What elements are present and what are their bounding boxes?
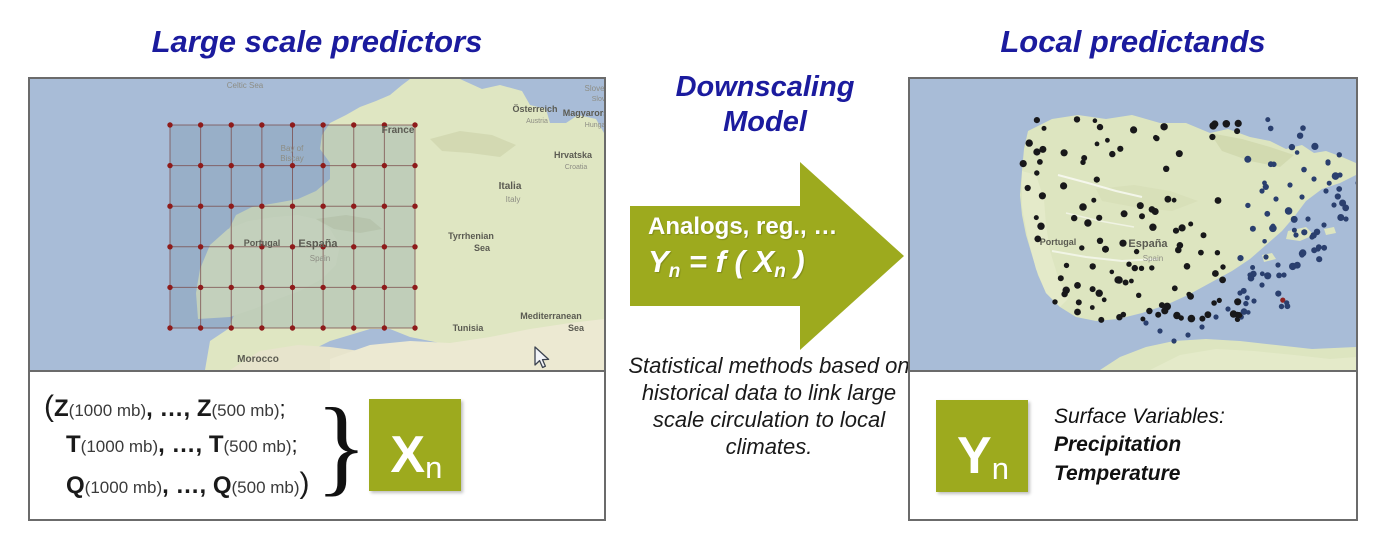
formula-var-t-2: T xyxy=(209,431,224,458)
station-point xyxy=(1091,198,1096,203)
station-point-offshore xyxy=(1337,172,1342,177)
map-label: Österreich xyxy=(512,104,557,114)
surface-variable-precipitation: Precipitation xyxy=(1054,431,1225,459)
grid-node xyxy=(382,285,387,290)
station-point xyxy=(1209,134,1215,140)
grid-node xyxy=(290,244,295,249)
station-point xyxy=(1223,120,1231,128)
station-point xyxy=(1291,216,1298,223)
grid-node xyxy=(259,285,264,290)
station-point xyxy=(1058,275,1064,281)
station-point xyxy=(1321,245,1327,251)
station-point xyxy=(1264,211,1270,217)
station-point-offshore xyxy=(1213,314,1218,319)
station-point xyxy=(1090,286,1096,292)
grid-node xyxy=(382,244,387,249)
station-point xyxy=(1132,265,1138,271)
map-label: Italia xyxy=(499,181,522,192)
grid-node xyxy=(382,204,387,209)
station-point xyxy=(1071,215,1077,221)
station-point xyxy=(1146,308,1152,314)
grid-node xyxy=(167,122,172,127)
station-point xyxy=(1205,311,1212,318)
formula-level-z-500: (500 mb) xyxy=(212,401,280,420)
station-point xyxy=(1079,203,1087,211)
grid-node xyxy=(259,204,264,209)
station-point xyxy=(1064,263,1069,268)
map-label: Bay of xyxy=(281,144,304,153)
station-point-offshore xyxy=(1321,222,1326,227)
station-point-offshore xyxy=(1273,196,1278,201)
grid-node xyxy=(320,204,325,209)
station-point xyxy=(1172,198,1177,203)
map-label: Tyrrhenian xyxy=(448,231,494,241)
predictor-variables-bar: (Z(1000 mb), …, Z(500 mb); T(1000 mb), …… xyxy=(30,372,604,519)
grid-node xyxy=(198,122,203,127)
station-point xyxy=(1076,299,1082,305)
station-point xyxy=(1117,146,1123,152)
formula-level-q-500: (500 mb) xyxy=(232,478,300,497)
map-label: Hrvatska xyxy=(554,150,593,160)
station-point xyxy=(1090,305,1095,310)
formula-var-z-1: Z xyxy=(54,395,69,422)
downscaling-arrow xyxy=(628,158,906,354)
station-point-offshore xyxy=(1171,338,1176,343)
grid-node xyxy=(198,285,203,290)
grid-node xyxy=(351,244,356,249)
map-label: Austria xyxy=(526,118,548,125)
station-point xyxy=(1121,210,1128,217)
map-label: Spain xyxy=(310,254,330,263)
predictand-token-yn: Yn xyxy=(936,400,1028,492)
station-point xyxy=(1084,219,1091,226)
grid-node xyxy=(351,163,356,168)
station-point xyxy=(1061,291,1067,297)
station-point-offshore xyxy=(1199,324,1204,329)
station-point-offshore xyxy=(1343,216,1348,221)
station-point xyxy=(1316,256,1322,262)
station-point-offshore xyxy=(1259,282,1264,287)
surface-variables-text: Surface Variables: Precipitation Tempera… xyxy=(1054,403,1225,488)
station-point xyxy=(1052,299,1057,304)
grid-node xyxy=(167,244,172,249)
grid-node xyxy=(382,163,387,168)
station-point xyxy=(1215,197,1222,204)
grid-node xyxy=(412,285,417,290)
station-point xyxy=(1188,222,1193,227)
station-point xyxy=(1116,314,1122,320)
station-point xyxy=(1093,118,1098,123)
station-point xyxy=(1198,250,1204,256)
station-point xyxy=(1037,223,1044,230)
map-label: Portugal xyxy=(1040,237,1077,247)
station-point xyxy=(1260,271,1265,276)
station-point xyxy=(1199,316,1205,322)
station-point-offshore xyxy=(1331,202,1336,207)
station-point xyxy=(1289,144,1295,150)
station-point xyxy=(1139,213,1145,219)
formula-line-q: Q(1000 mb), …, Q(500 mb)) xyxy=(44,463,310,506)
station-point-offshore xyxy=(1237,290,1242,295)
station-point xyxy=(1074,116,1080,122)
station-point xyxy=(1292,228,1297,233)
station-point xyxy=(1234,128,1240,134)
grid-node xyxy=(167,163,172,168)
grid-node xyxy=(229,244,234,249)
grid-node xyxy=(412,325,417,330)
station-point xyxy=(1152,208,1159,215)
station-point xyxy=(1234,298,1241,305)
formula-level-t-1000: (1000 mb) xyxy=(81,437,158,456)
station-point xyxy=(1098,317,1104,323)
station-point xyxy=(1080,160,1085,165)
station-point xyxy=(1126,262,1131,267)
station-point xyxy=(1188,315,1196,323)
arrow-right-icon xyxy=(628,158,906,354)
station-point xyxy=(1034,236,1041,243)
station-point-offshore xyxy=(1309,234,1314,239)
station-point xyxy=(1149,224,1156,231)
station-point xyxy=(1275,291,1281,297)
map-label: Hungary xyxy=(585,122,604,129)
station-point xyxy=(1096,290,1103,297)
token-letter-x: X xyxy=(390,426,424,484)
station-point-offshore xyxy=(1251,298,1256,303)
map-label: España xyxy=(298,238,338,250)
formula-line-t: T(1000 mb), …, T(500 mb); xyxy=(44,428,310,462)
map-label: Portugal xyxy=(244,238,281,248)
formula-close-paren: ) xyxy=(300,467,310,500)
grid-node xyxy=(412,163,417,168)
map-label: Italy xyxy=(506,195,521,204)
station-point-offshore xyxy=(1143,320,1148,325)
token-letter-y: Y xyxy=(957,427,991,485)
station-point xyxy=(1300,125,1306,131)
large-scale-predictors-panel: Celtic SeaBay ofBiscayFrancePortugalEspa… xyxy=(28,77,606,521)
token-sub-n-x: n xyxy=(425,450,441,485)
station-point xyxy=(1327,181,1332,186)
grid-node xyxy=(290,204,295,209)
formula-var-q-2: Q xyxy=(213,472,232,499)
grid-node xyxy=(382,325,387,330)
station-point xyxy=(1060,182,1067,189)
station-point xyxy=(1211,300,1217,306)
station-point-offshore xyxy=(1157,328,1162,333)
station-point xyxy=(1220,264,1225,269)
station-point xyxy=(1301,167,1307,173)
station-point xyxy=(1336,186,1342,192)
grid-node xyxy=(290,163,295,168)
station-point-offshore xyxy=(1185,332,1190,337)
map-label: Magyarország xyxy=(563,108,604,118)
grid-node xyxy=(229,204,234,209)
station-point xyxy=(1335,193,1341,199)
station-point xyxy=(1020,160,1027,167)
map-label: Spain xyxy=(1143,254,1163,263)
station-point xyxy=(1264,272,1271,279)
station-point xyxy=(1074,309,1081,316)
station-point xyxy=(1123,280,1129,286)
page-title-large-scale-predictors: Large scale predictors xyxy=(28,24,606,60)
grid-node xyxy=(412,244,417,249)
grid-node xyxy=(198,163,203,168)
grid-node xyxy=(259,122,264,127)
station-point xyxy=(1235,120,1242,127)
station-point xyxy=(1172,285,1178,291)
europe-map-graphic: Celtic SeaBay ofBiscayFrancePortugalEspa… xyxy=(30,79,604,370)
station-point-offshore xyxy=(1263,254,1268,259)
station-point-offshore xyxy=(1225,306,1230,311)
station-point xyxy=(1179,224,1186,231)
station-point xyxy=(1154,136,1160,142)
iberia-station-map[interactable]: PortugalEspañaSpain xyxy=(910,79,1356,372)
station-point xyxy=(1061,149,1068,156)
grid-node xyxy=(167,204,172,209)
station-point xyxy=(1250,226,1256,232)
station-point-offshore xyxy=(1305,216,1310,221)
grid-node xyxy=(229,325,234,330)
station-point xyxy=(1039,192,1046,199)
station-point xyxy=(1136,293,1141,298)
map-label: Celtic Sea xyxy=(227,81,264,90)
station-point xyxy=(1311,143,1318,150)
station-point xyxy=(1134,249,1139,254)
station-point xyxy=(1244,156,1251,163)
station-point xyxy=(1160,123,1167,130)
map-label: Sea xyxy=(568,323,585,333)
station-point xyxy=(1241,308,1248,315)
station-point-offshore xyxy=(1259,188,1264,193)
formula-dots-z: , …, xyxy=(146,395,197,422)
grid-node xyxy=(320,325,325,330)
station-point xyxy=(1102,246,1109,253)
station-point xyxy=(1268,126,1274,132)
station-point xyxy=(1339,200,1346,207)
map-label: Morocco xyxy=(237,354,279,365)
station-point xyxy=(1262,239,1267,244)
station-point xyxy=(1119,240,1126,247)
grid-node xyxy=(320,122,325,127)
downscaling-title-line2: Model xyxy=(723,106,807,138)
iberia-map-graphic: PortugalEspañaSpain xyxy=(910,79,1356,370)
grid-node xyxy=(290,325,295,330)
formula-var-z-2: Z xyxy=(197,395,212,422)
station-point xyxy=(1285,303,1291,309)
map-label: Slovakia xyxy=(592,96,604,103)
station-point xyxy=(1212,270,1219,277)
station-point xyxy=(1025,185,1031,191)
station-point xyxy=(1161,307,1168,314)
formula-level-q-1000: (1000 mb) xyxy=(85,478,162,497)
station-point xyxy=(1090,263,1096,269)
predictor-variable-formula: (Z(1000 mb), …, Z(500 mb); T(1000 mb), …… xyxy=(44,386,310,505)
token-sub-n-y: n xyxy=(992,451,1008,486)
surface-variables-bar: Yn Surface Variables: Precipitation Temp… xyxy=(910,372,1356,519)
station-point xyxy=(1105,138,1110,143)
station-point xyxy=(1110,270,1115,275)
grid-node xyxy=(320,163,325,168)
map-label: España xyxy=(1128,238,1168,250)
station-point xyxy=(1074,282,1081,289)
station-point-offshore xyxy=(1275,262,1280,267)
station-point-offshore xyxy=(1247,272,1252,277)
station-point xyxy=(1102,297,1107,302)
station-point xyxy=(1187,293,1194,300)
formula-var-t-1: T xyxy=(66,431,81,458)
formula-level-z-1000: (1000 mb) xyxy=(69,401,146,420)
station-point xyxy=(1173,312,1180,319)
station-point xyxy=(1337,152,1342,157)
station-point xyxy=(1137,202,1144,209)
formula-dots-t: , …, xyxy=(158,431,209,458)
station-point-offshore xyxy=(1299,194,1304,199)
station-point-offshore xyxy=(1315,246,1320,251)
station-point-offshore xyxy=(1293,232,1298,237)
map-label: Tunisia xyxy=(453,323,485,333)
station-point xyxy=(1109,151,1115,157)
station-point xyxy=(1250,265,1255,270)
station-point xyxy=(1279,304,1284,309)
station-point xyxy=(1140,317,1145,322)
station-point xyxy=(1245,203,1250,208)
station-point xyxy=(1079,245,1084,250)
map-label: Croatia xyxy=(565,164,588,171)
grid-node xyxy=(351,122,356,127)
station-point xyxy=(1037,159,1043,165)
station-point xyxy=(1096,215,1102,221)
formula-end-z: ; xyxy=(280,396,286,421)
mouse-pointer-icon xyxy=(533,346,551,370)
grid-node xyxy=(198,244,203,249)
europe-predictor-map[interactable]: Celtic SeaBay ofBiscayFrancePortugalEspa… xyxy=(30,79,604,372)
station-point xyxy=(1034,170,1039,175)
station-point xyxy=(1201,232,1207,238)
station-point xyxy=(1219,277,1226,284)
predictor-token-xn: Xn xyxy=(369,399,461,491)
station-point xyxy=(1314,229,1321,236)
station-point xyxy=(1114,276,1121,283)
station-point xyxy=(1184,263,1191,270)
station-point xyxy=(1130,126,1137,133)
station-point xyxy=(1271,162,1277,168)
station-point xyxy=(1097,238,1103,244)
surface-variables-header: Surface Variables: xyxy=(1054,405,1225,428)
station-point xyxy=(1294,262,1301,269)
map-label: France xyxy=(382,125,415,136)
station-point xyxy=(1026,139,1033,146)
station-point xyxy=(1211,120,1218,127)
map-label: Mediterranean xyxy=(520,311,582,321)
station-point xyxy=(1176,150,1183,157)
station-point xyxy=(1301,229,1307,235)
station-point-offshore xyxy=(1323,188,1328,193)
downscaling-caption: Statistical methods based on historical … xyxy=(626,352,912,460)
station-point xyxy=(1215,250,1220,255)
map-label: Slovensko xyxy=(585,84,604,93)
station-point-offshore xyxy=(1281,272,1286,277)
formula-var-q-1: Q xyxy=(66,472,85,499)
grid-node xyxy=(167,325,172,330)
grid-node xyxy=(198,204,203,209)
formula-dots-q: , …, xyxy=(162,472,213,499)
station-point xyxy=(1230,310,1237,317)
grid-node xyxy=(290,285,295,290)
station-point xyxy=(1295,150,1300,155)
grid-node xyxy=(290,122,295,127)
grid-node xyxy=(351,325,356,330)
formula-level-t-500: (500 mb) xyxy=(224,437,292,456)
station-point xyxy=(1155,312,1161,318)
station-point xyxy=(1034,215,1039,220)
grid-node xyxy=(259,163,264,168)
station-point xyxy=(1245,295,1250,300)
station-point xyxy=(1285,207,1293,215)
page-title-local-predictands: Local predictands xyxy=(908,24,1358,60)
station-point xyxy=(1165,196,1172,203)
station-point xyxy=(1276,273,1282,279)
formula-end-t: ; xyxy=(292,432,298,457)
map-label: Sea xyxy=(474,243,491,253)
station-point xyxy=(1039,146,1046,153)
station-point xyxy=(1097,124,1103,130)
grid-node xyxy=(320,285,325,290)
grid-node xyxy=(229,285,234,290)
downscaling-model-title: Downscaling Model xyxy=(620,70,910,141)
surface-variable-temperature: Temperature xyxy=(1054,460,1225,488)
map-label: Biscay xyxy=(280,154,304,163)
formula-line-z: (Z(1000 mb), …, Z(500 mb); xyxy=(44,386,310,429)
station-point xyxy=(1269,225,1277,233)
station-point xyxy=(1129,279,1134,284)
local-predictands-panel: PortugalEspañaSpain Yn Surface Variables… xyxy=(908,77,1358,521)
station-point xyxy=(1237,255,1243,261)
formula-open-paren: ( xyxy=(44,390,54,423)
station-point-offshore xyxy=(1311,176,1316,181)
station-point xyxy=(1297,133,1303,139)
station-point-offshore xyxy=(1325,160,1330,165)
station-point xyxy=(1265,117,1270,122)
grid-node xyxy=(229,122,234,127)
station-point xyxy=(1243,301,1248,306)
grid-node xyxy=(167,285,172,290)
station-point xyxy=(1173,228,1179,234)
station-point xyxy=(1149,265,1154,270)
grid-node xyxy=(351,204,356,209)
grid-node xyxy=(198,325,203,330)
grid-node xyxy=(259,325,264,330)
station-point-offshore xyxy=(1287,182,1292,187)
station-point xyxy=(1217,298,1222,303)
grid-node xyxy=(351,285,356,290)
grid-node xyxy=(229,163,234,168)
station-point xyxy=(1163,166,1169,172)
station-point xyxy=(1177,242,1184,249)
station-point xyxy=(1139,266,1144,271)
station-point xyxy=(1094,177,1100,183)
station-point-offshore xyxy=(1299,252,1304,257)
station-point xyxy=(1095,142,1100,147)
station-point xyxy=(1042,126,1047,131)
grid-node xyxy=(412,204,417,209)
downscaling-title-line1: Downscaling xyxy=(676,71,855,103)
station-point xyxy=(1034,117,1040,123)
station-point xyxy=(1337,214,1344,221)
